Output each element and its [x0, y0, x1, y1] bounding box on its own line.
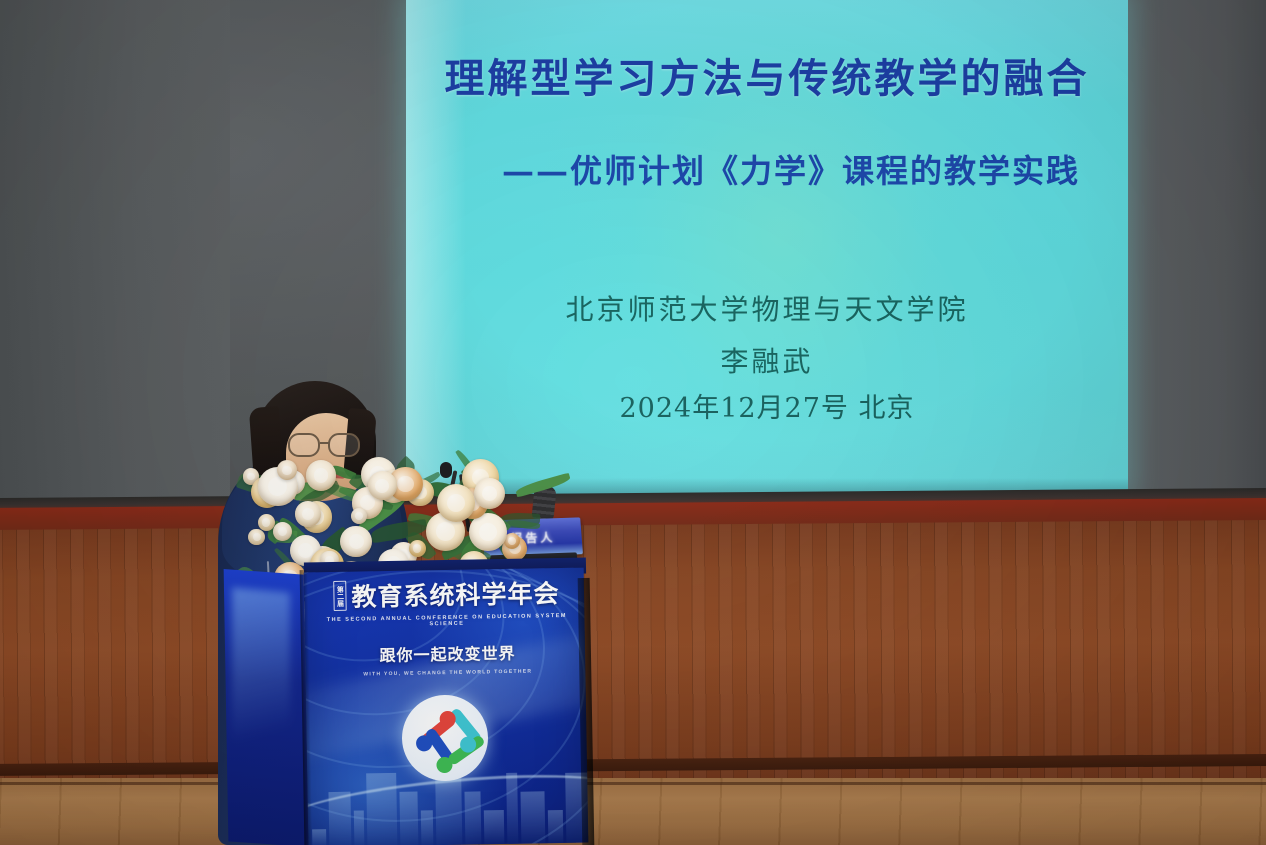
rose: [474, 478, 505, 509]
rose: [368, 471, 397, 500]
logo-node-1: [416, 735, 432, 751]
rose: [306, 460, 337, 491]
conference-name-cn: 教育系统科学年会: [351, 574, 560, 614]
lens-left: [288, 433, 320, 457]
slide-content: 理解型学习方法与传统教学的融合 ——优师计划《力学》课程的教学实践 北京师范大学…: [406, 0, 1128, 494]
wall-left-shading: [0, 0, 230, 512]
wall-right-shading: [1128, 0, 1266, 508]
eyeglasses-icon: [288, 433, 372, 457]
podium-left-highlight: [232, 587, 290, 832]
edition-badge: 第二届: [333, 581, 347, 611]
rose: [469, 513, 507, 551]
slide-date-location: 2024年12月27号 北京: [406, 386, 1128, 425]
stage-floor: [0, 778, 1266, 845]
conference-photo: 理解型学习方法与传统教学的融合 ——优师计划《力学》课程的教学实践 北京师范大学…: [0, 0, 1266, 845]
rose: [273, 522, 292, 541]
rose: [295, 501, 320, 526]
slide-title: 理解型学习方法与传统教学的融合: [406, 46, 1128, 104]
slogan-cn: 跟你一起改变世界: [312, 639, 582, 668]
rose: [409, 540, 426, 557]
lens-right: [328, 433, 360, 457]
podium: 第二届 教育系统科学年会 THE SECOND ANNUAL CONFERENC…: [226, 560, 586, 845]
slide-subtitle: ——优师计划《力学》课程的教学实践: [406, 146, 1128, 192]
floor-seam: [0, 782, 1266, 785]
podium-banner: 第二届 教育系统科学年会 THE SECOND ANNUAL CONFERENC…: [311, 574, 583, 679]
glasses-bridge: [320, 442, 330, 444]
slide-author: 李融武: [406, 340, 1128, 380]
rose: [340, 526, 371, 557]
projection-screen: 理解型学习方法与传统教学的融合 ——优师计划《力学》课程的教学实践 北京师范大学…: [406, 0, 1128, 494]
rose: [351, 508, 367, 524]
podium-title-row: 第二届 教育系统科学年会: [311, 574, 582, 615]
logo-node-3: [436, 757, 452, 773]
rose: [248, 529, 265, 546]
conference-name-en: THE SECOND ANNUAL CONFERENCE ON EDUCATIO…: [312, 613, 582, 630]
slide-affiliation: 北京师范大学物理与天文学院: [406, 288, 1128, 328]
